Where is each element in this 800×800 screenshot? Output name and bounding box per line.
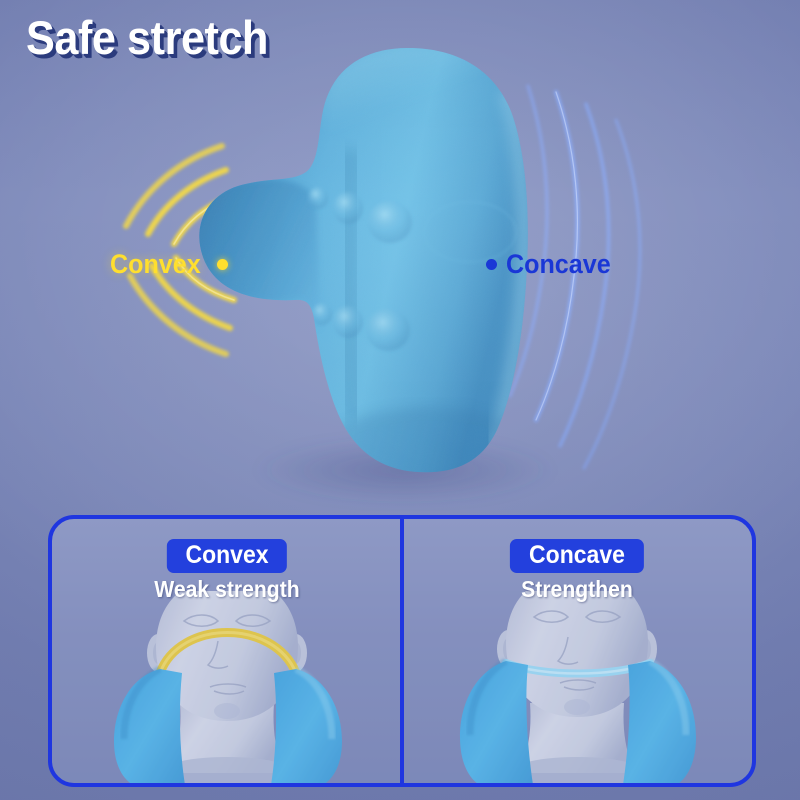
- comparison-half-concave: Concave Strengthen: [402, 519, 752, 783]
- callout-concave-dot: [486, 259, 497, 270]
- product-infographic: Convex Concave Safe stretch: [0, 0, 800, 800]
- badge-concave: Concave: [510, 539, 644, 573]
- comparison-panel: Convex Weak strength: [48, 515, 756, 787]
- panel-divider: [400, 519, 404, 783]
- caption-convex: Weak strength: [148, 577, 306, 602]
- comparison-half-convex: Convex Weak strength: [52, 519, 402, 783]
- callout-concave-label: Concave: [506, 251, 611, 278]
- caption-concave: Strengthen: [516, 577, 637, 602]
- callout-convex-dot: [217, 259, 228, 270]
- figure-convex: [52, 591, 402, 783]
- badge-convex: Convex: [167, 539, 287, 573]
- callout-concave: Concave: [486, 251, 619, 278]
- callout-convex-label: Convex: [110, 251, 201, 278]
- callout-convex: Convex: [110, 251, 228, 278]
- page-title: Safe stretch: [26, 14, 268, 61]
- figure-concave: [402, 591, 752, 783]
